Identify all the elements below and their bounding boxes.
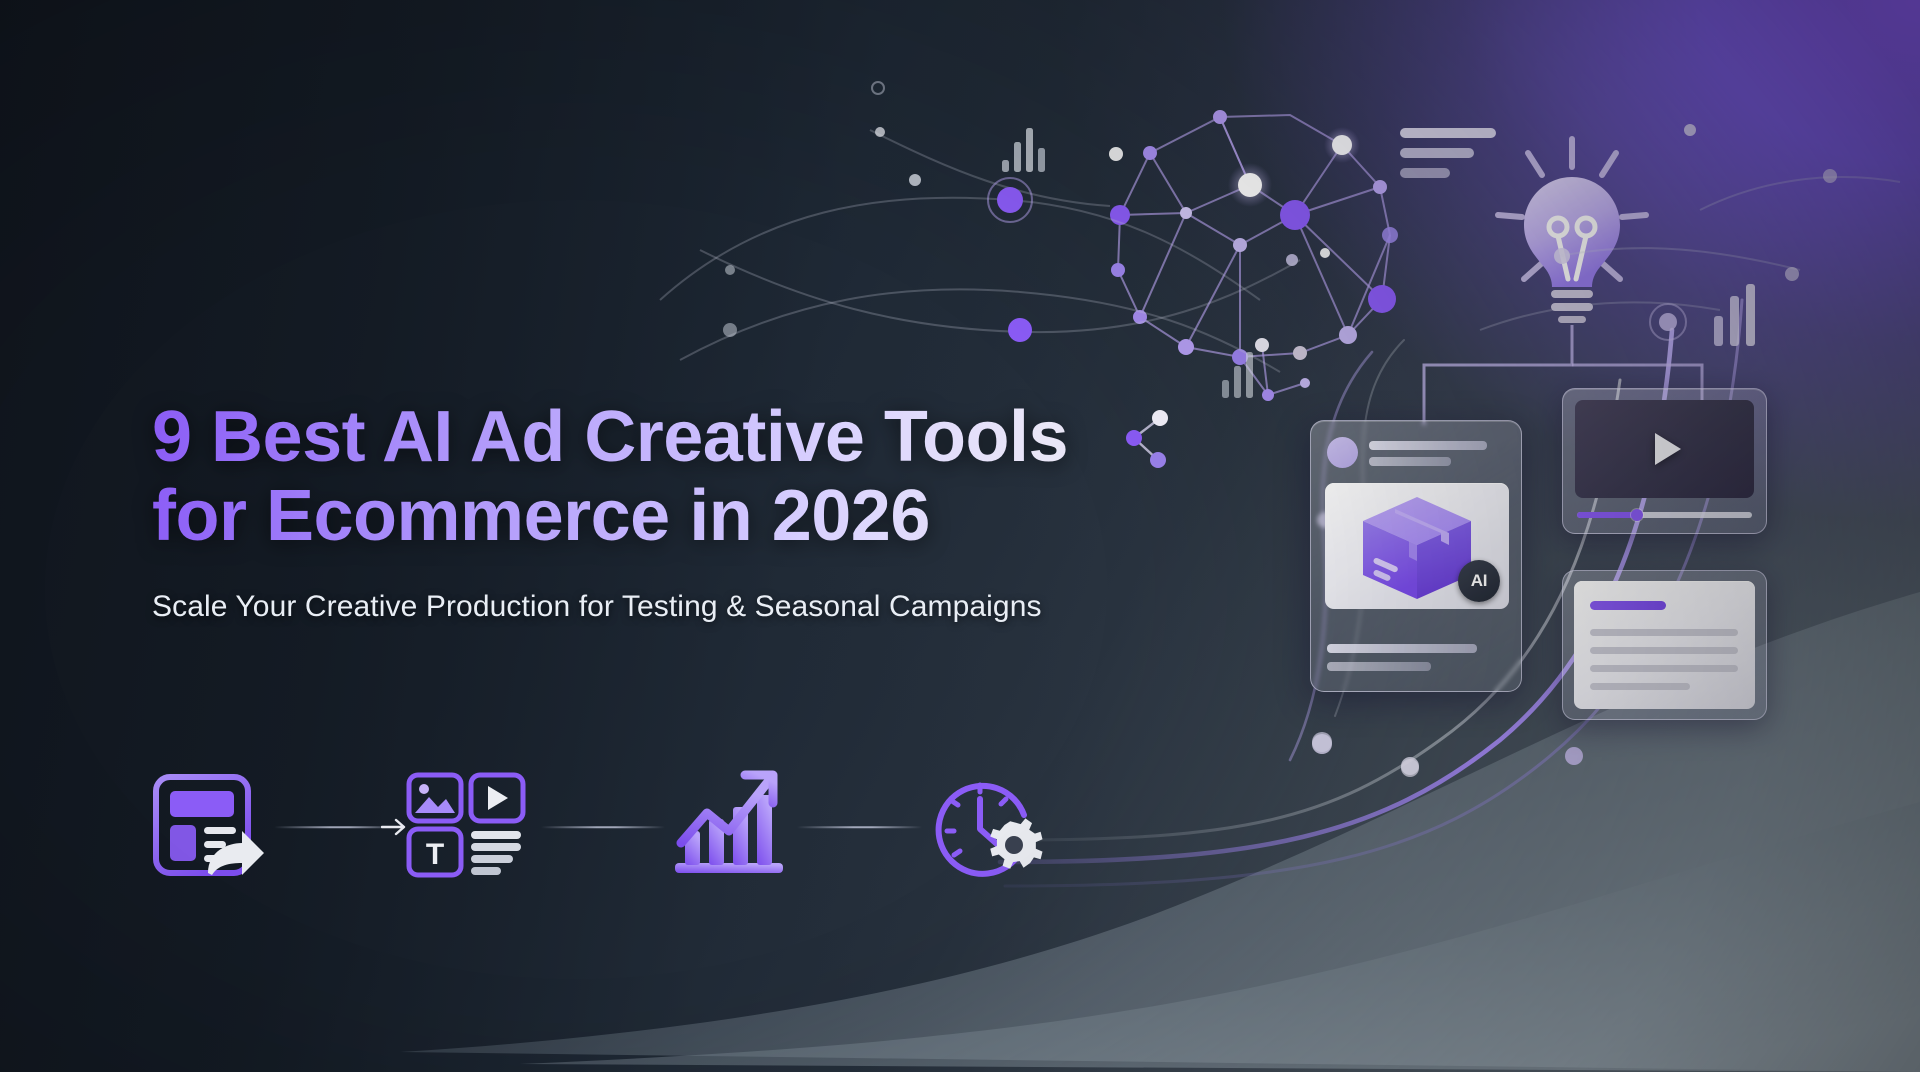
page-title: 9 Best AI Ad Creative Tools for Ecommerc…: [152, 398, 1252, 556]
copy-line-1: [1590, 629, 1738, 636]
post-header-line-1: [1369, 441, 1487, 450]
video-tile-icon: [471, 775, 523, 821]
copy-headline-bar: [1590, 601, 1666, 610]
workflow-connector-1: [268, 826, 405, 828]
post-media: AI: [1325, 483, 1509, 609]
copy-sheet: [1574, 581, 1755, 709]
avatar: [1327, 437, 1358, 468]
post-header-line-2: [1369, 457, 1451, 466]
page-subtitle: Scale Your Creative Production for Testi…: [152, 590, 1252, 624]
gear-icon: [990, 818, 1042, 868]
workflow-step-growth[interactable]: [671, 769, 791, 886]
text-lines-tile-icon: [471, 831, 521, 875]
arrow-right-icon: [381, 818, 407, 836]
video-progress-handle[interactable]: [1631, 509, 1643, 521]
copy-line-2: [1590, 647, 1738, 654]
template-export-icon: [150, 769, 268, 881]
workflow-step-template-export[interactable]: [150, 769, 268, 886]
workflow-step-creative-assets[interactable]: T: [405, 769, 535, 886]
svg-text:T: T: [426, 838, 444, 871]
growth-chart-icon: [671, 769, 791, 881]
post-footer-line-1: [1327, 644, 1477, 653]
ai-badge: AI: [1458, 560, 1500, 602]
workflow-icon-strip: T: [150, 762, 1050, 892]
workflow-connector-2: [535, 826, 672, 828]
post-footer-line-2: [1327, 662, 1431, 671]
asset-grid-icon: T: [405, 769, 535, 881]
video-progress-track[interactable]: [1577, 512, 1752, 518]
social-post-card[interactable]: AI: [1310, 420, 1522, 692]
copy-line-3: [1590, 665, 1738, 672]
hero-text-block: 9 Best AI Ad Creative Tools for Ecommerc…: [152, 398, 1252, 624]
workflow-connector-3: [791, 826, 928, 828]
video-player-card[interactable]: [1562, 388, 1767, 534]
clock-gear-icon: [928, 769, 1050, 881]
hero-banner: 9 Best AI Ad Creative Tools for Ecommerc…: [0, 0, 1920, 1072]
copy-line-4: [1590, 683, 1690, 690]
image-tile-icon: [409, 775, 461, 821]
video-screen: [1575, 400, 1754, 498]
workflow-step-automation[interactable]: [928, 769, 1050, 886]
play-icon[interactable]: [1655, 433, 1681, 465]
video-progress-fill: [1577, 512, 1637, 518]
ad-copy-card[interactable]: [1562, 570, 1767, 720]
text-tile-icon: T: [409, 829, 461, 875]
